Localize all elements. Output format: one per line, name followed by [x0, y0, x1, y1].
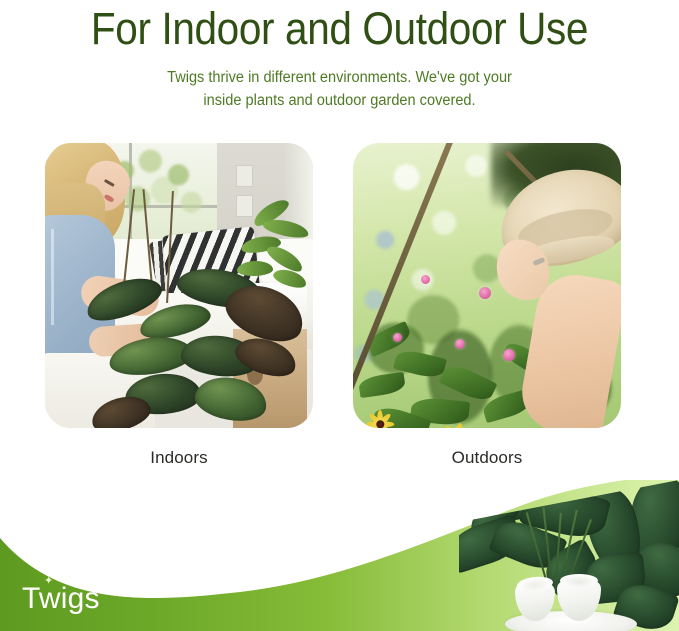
page-title: For Indoor and Outdoor Use [34, 2, 645, 55]
brand-logo-text: Twigs [22, 583, 100, 615]
pink-flower [421, 275, 430, 284]
indoor-photo [45, 143, 313, 428]
brand-banner: Twigs ✦ [0, 480, 679, 631]
subtitle-line-1: Twigs thrive in different environments. … [20, 66, 658, 89]
rubber-plant [85, 252, 313, 428]
sunflower [368, 412, 392, 428]
pink-flower [393, 333, 402, 342]
outdoor-photo [353, 143, 621, 428]
outdoor-image-card [353, 143, 621, 428]
sunflower [439, 423, 474, 428]
caption-outdoors: Outdoors [353, 448, 621, 468]
pink-flower [503, 349, 515, 361]
feature-image-row [0, 143, 679, 433]
image-caption-row: Indoors Outdoors [0, 448, 679, 480]
subtitle-line-2: inside plants and outdoor garden covered… [20, 89, 658, 112]
indoor-image-card [45, 143, 313, 428]
picture-frame-icon [236, 165, 253, 187]
product-feature-module: For Indoor and Outdoor Use Twigs thrive … [0, 0, 679, 631]
pink-flower [479, 287, 491, 299]
page-subtitle: Twigs thrive in different environments. … [20, 66, 658, 112]
sparkle-icon: ✦ [44, 576, 53, 587]
caption-indoors: Indoors [45, 448, 313, 468]
pink-flower [455, 339, 465, 349]
